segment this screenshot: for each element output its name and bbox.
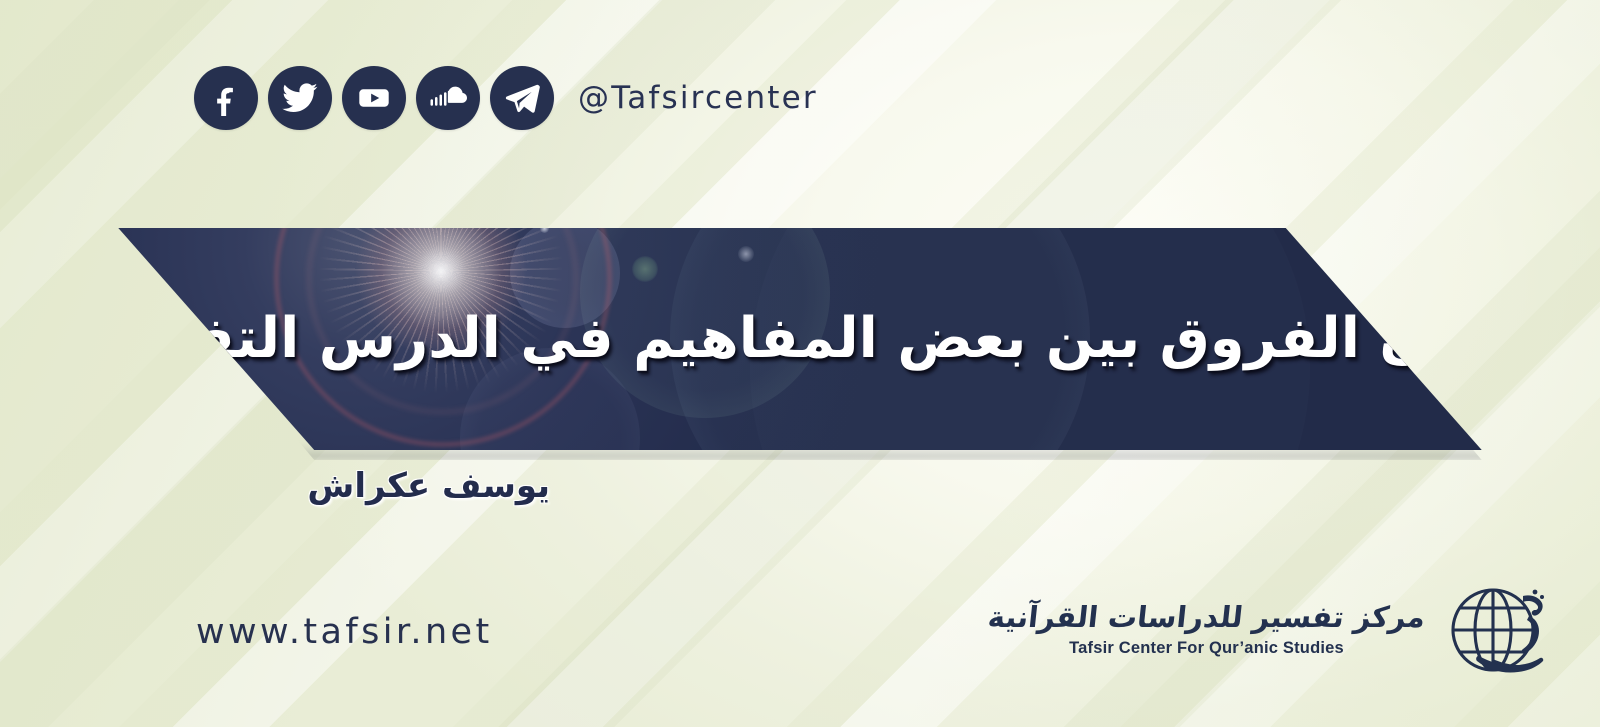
tafsir-center-logo[interactable]: مركز تفسير للدراسات القرآنية Tafsir Cent… (988, 578, 1555, 682)
facebook-icon[interactable] (194, 66, 258, 130)
banner-canvas: @Tafsircenter بيان الفروق بين بعض المفاه… (0, 0, 1600, 727)
social-media-bar: @Tafsircenter (194, 66, 818, 130)
title-banner: بيان الفروق بين بعض المفاهيم في الدرس ال… (110, 228, 1490, 450)
banner-title: بيان الفروق بين بعض المفاهيم في الدرس ال… (110, 228, 1412, 450)
social-handle-label: @Tafsircenter (578, 80, 818, 116)
youtube-icon[interactable] (342, 66, 406, 130)
logo-english-name: Tafsir Center For Qur’anic Studies (1069, 639, 1344, 658)
logo-wordmark: مركز تفسير للدراسات القرآنية Tafsir Cent… (988, 602, 1425, 659)
twitter-icon[interactable] (268, 66, 332, 130)
logo-arabic-calligraphy: مركز تفسير للدراسات القرآنية (986, 602, 1426, 634)
telegram-icon[interactable] (490, 66, 554, 130)
soundcloud-icon[interactable] (416, 66, 480, 130)
globe-logo-icon (1443, 578, 1555, 682)
website-url[interactable]: www.tafsir.net (196, 612, 493, 652)
author-name: يوسف عكراش (0, 466, 550, 506)
